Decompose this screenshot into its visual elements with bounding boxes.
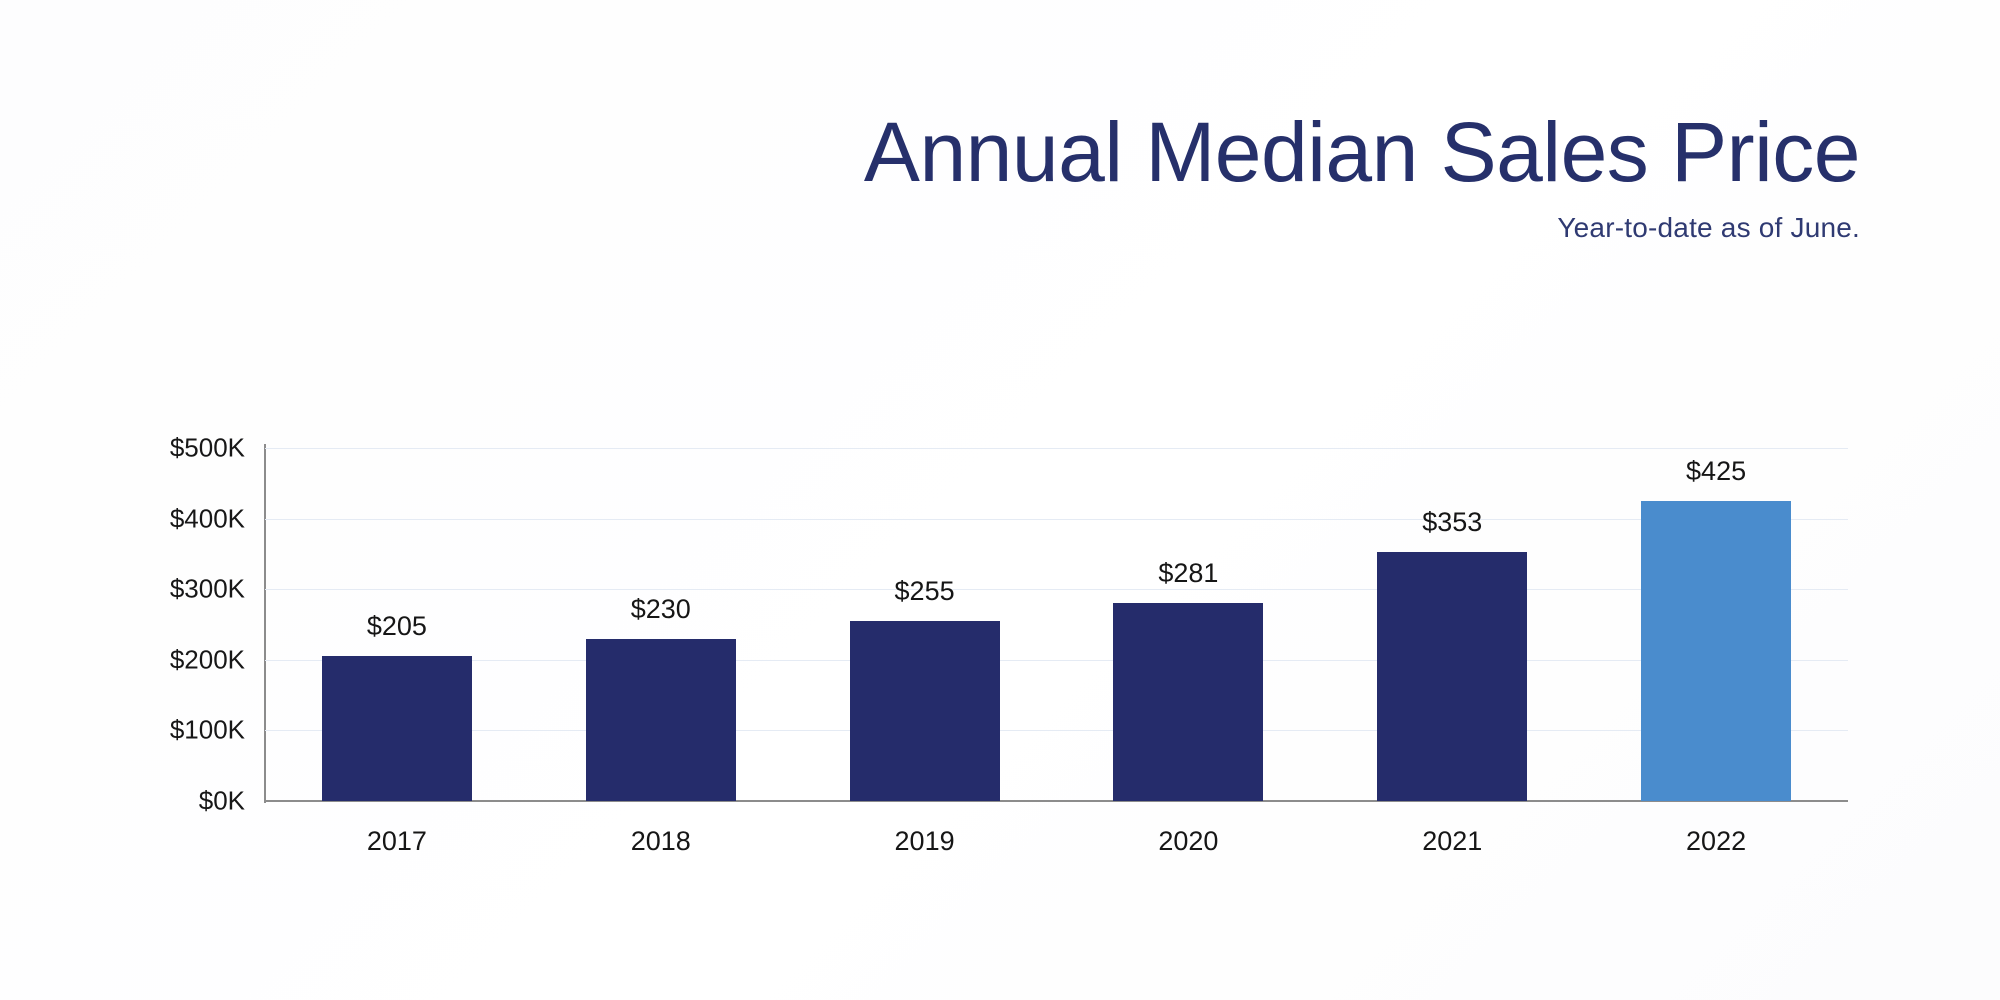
bar-2021[interactable] — [1377, 552, 1527, 801]
bar-group-2020[interactable]: $2812020 — [1113, 448, 1263, 801]
y-axis-tick-label: $500K — [95, 433, 245, 464]
gridline — [265, 589, 1848, 590]
gridline — [265, 519, 1848, 520]
y-axis-tick-label: $300K — [95, 574, 245, 605]
bar-value-label-2019: $255 — [895, 576, 955, 607]
x-axis-tick-label-2021: 2021 — [1422, 826, 1482, 857]
y-axis-tick-label: $100K — [95, 715, 245, 746]
bar-group-2021[interactable]: $3532021 — [1377, 448, 1527, 801]
x-axis-tick-label-2022: 2022 — [1686, 826, 1746, 857]
x-axis-tick-label-2020: 2020 — [1158, 826, 1218, 857]
bar-group-2018[interactable]: $2302018 — [586, 448, 736, 801]
bar-2018[interactable] — [586, 639, 736, 801]
y-axis-tick-label: $200K — [95, 644, 245, 675]
bar-2020[interactable] — [1113, 603, 1263, 801]
gridline — [265, 660, 1848, 661]
bar-group-2019[interactable]: $2552019 — [850, 448, 1000, 801]
chart-plot: $0K$100K$200K$300K$400K$500K $2052017$23… — [0, 0, 2000, 1000]
y-axis-tick-label: $400K — [95, 503, 245, 534]
bar-group-2017[interactable]: $2052017 — [322, 448, 472, 801]
x-axis-tick-label-2017: 2017 — [367, 826, 427, 857]
x-axis-tick-label-2019: 2019 — [895, 826, 955, 857]
bar-value-label-2022: $425 — [1686, 456, 1746, 487]
chart-page: Annual Median Sales Price Year-to-date a… — [0, 0, 2000, 1000]
bar-2022[interactable] — [1641, 501, 1791, 801]
bar-2019[interactable] — [850, 621, 1000, 801]
y-axis-tick-label: $0K — [95, 786, 245, 817]
gridline — [265, 730, 1848, 731]
bar-value-label-2020: $281 — [1158, 558, 1218, 589]
bar-value-label-2021: $353 — [1422, 507, 1482, 538]
bar-group-2022[interactable]: $4252022 — [1641, 448, 1791, 801]
bar-2017[interactable] — [322, 656, 472, 801]
x-axis-tick-label-2018: 2018 — [631, 826, 691, 857]
gridline — [265, 448, 1848, 449]
bar-value-label-2017: $205 — [367, 611, 427, 642]
bar-value-label-2018: $230 — [631, 594, 691, 625]
y-axis-tick-labels: $0K$100K$200K$300K$400K$500K — [95, 0, 245, 1000]
plot-area: $2052017$2302018$2552019$2812020$3532021… — [265, 448, 1848, 801]
